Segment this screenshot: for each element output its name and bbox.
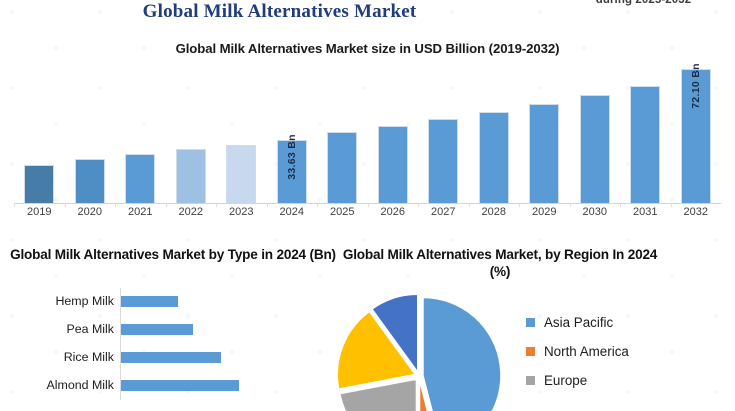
type-label-hemp-milk: Hemp Milk: [8, 294, 114, 308]
x-tick-2029: 2029: [519, 206, 569, 218]
x-tick-2032: 2032: [671, 206, 721, 218]
legend-item-europe[interactable]: Europe: [526, 366, 726, 395]
bar-2022: [176, 149, 206, 203]
x-tick-mark: [317, 203, 318, 207]
market-by-region-pie-chart: Global Milk Alternatives Market, by Regi…: [330, 246, 735, 400]
bar-2029: [529, 104, 559, 203]
bar-2028: [479, 112, 509, 203]
bar-2031: [630, 86, 660, 203]
legend-item-north-america[interactable]: North America: [526, 337, 726, 366]
bar-chart-plot-area: 33.63 Bn72.10 Bn: [14, 58, 721, 203]
type-chart-title: Global Milk Alternatives Market by Type …: [8, 246, 338, 263]
bar-2021: [125, 154, 155, 203]
bar-2024: 33.63 Bn: [277, 140, 307, 203]
type-bar-rice-milk: [121, 352, 221, 363]
type-chart-plot-area: Hemp MilkPea MilkRice MilkAlmond Milk: [8, 288, 338, 400]
bar-2025: [327, 132, 357, 203]
x-tick-mark: [65, 203, 66, 207]
x-tick-mark: [216, 203, 217, 207]
pie-legend: Asia PacificNorth AmericaEurope: [526, 308, 726, 395]
type-bar-pea-milk: [121, 324, 193, 335]
x-tick-2028: 2028: [469, 206, 519, 218]
market-size-bar-chart: 33.63 Bn72.10 Bn 20192020202120222023202…: [0, 58, 735, 218]
type-bar-hemp-milk: [121, 296, 178, 307]
bar-2023: [226, 145, 256, 203]
x-tick-2020: 2020: [65, 206, 115, 218]
bar-value-label-2032: 72.10 Bn: [690, 63, 702, 109]
x-tick-2019: 2019: [14, 206, 64, 218]
x-tick-2027: 2027: [418, 206, 468, 218]
x-tick-mark: [166, 203, 167, 207]
type-label-pea-milk: Pea Milk: [8, 322, 114, 336]
legend-item-asia-pacific[interactable]: Asia Pacific: [526, 308, 726, 337]
legend-swatch-icon: [526, 347, 535, 356]
legend-swatch-icon: [526, 376, 535, 385]
x-tick-mark: [14, 203, 15, 207]
legend-label: North America: [544, 344, 629, 359]
type-bar-almond-milk: [121, 380, 239, 391]
x-tick-mark: [519, 203, 520, 207]
x-tick-2030: 2030: [570, 206, 620, 218]
bar-2020: [75, 159, 105, 203]
bar-chart-title: Global Milk Alternatives Market size in …: [0, 41, 735, 56]
x-tick-mark: [115, 203, 116, 207]
region-chart-title: Global Milk Alternatives Market, by Regi…: [340, 246, 660, 280]
bar-value-label-2024: 33.63 Bn: [286, 134, 298, 180]
x-tick-mark: [418, 203, 419, 207]
bar-2019: [24, 165, 54, 203]
market-by-type-bar-chart: Global Milk Alternatives Market by Type …: [8, 246, 338, 400]
bar-2027: [428, 119, 458, 203]
x-tick-mark: [570, 203, 571, 207]
x-tick-mark: [267, 203, 268, 207]
x-tick-mark: [469, 203, 470, 207]
legend-label: Europe: [544, 373, 587, 388]
x-tick-2026: 2026: [368, 206, 418, 218]
page-title: Global Milk Alternatives Market: [0, 1, 735, 23]
infographic-canvas: during 2025-2032 Global Milk Alternative…: [0, 0, 735, 400]
x-tick-mark: [620, 203, 621, 207]
x-tick-2031: 2031: [620, 206, 670, 218]
page-title-text: Global Milk Alternatives Market: [143, 1, 417, 23]
x-tick-mark: [368, 203, 369, 207]
x-tick-2022: 2022: [166, 206, 216, 218]
legend-label: Asia Pacific: [544, 315, 613, 330]
type-label-almond-milk: Almond Milk: [8, 378, 114, 392]
bar-2026: [378, 126, 408, 203]
x-tick-2023: 2023: [216, 206, 266, 218]
x-tick-2025: 2025: [317, 206, 367, 218]
x-tick-2021: 2021: [115, 206, 165, 218]
x-tick-mark: [671, 203, 672, 207]
bar-2032: 72.10 Bn: [681, 69, 711, 203]
pie-slice-asia-pacific: [423, 297, 501, 411]
type-label-rice-milk: Rice Milk: [8, 350, 114, 364]
x-tick-2024: 2024: [267, 206, 317, 218]
legend-swatch-icon: [526, 318, 535, 327]
bar-2030: [580, 95, 610, 203]
